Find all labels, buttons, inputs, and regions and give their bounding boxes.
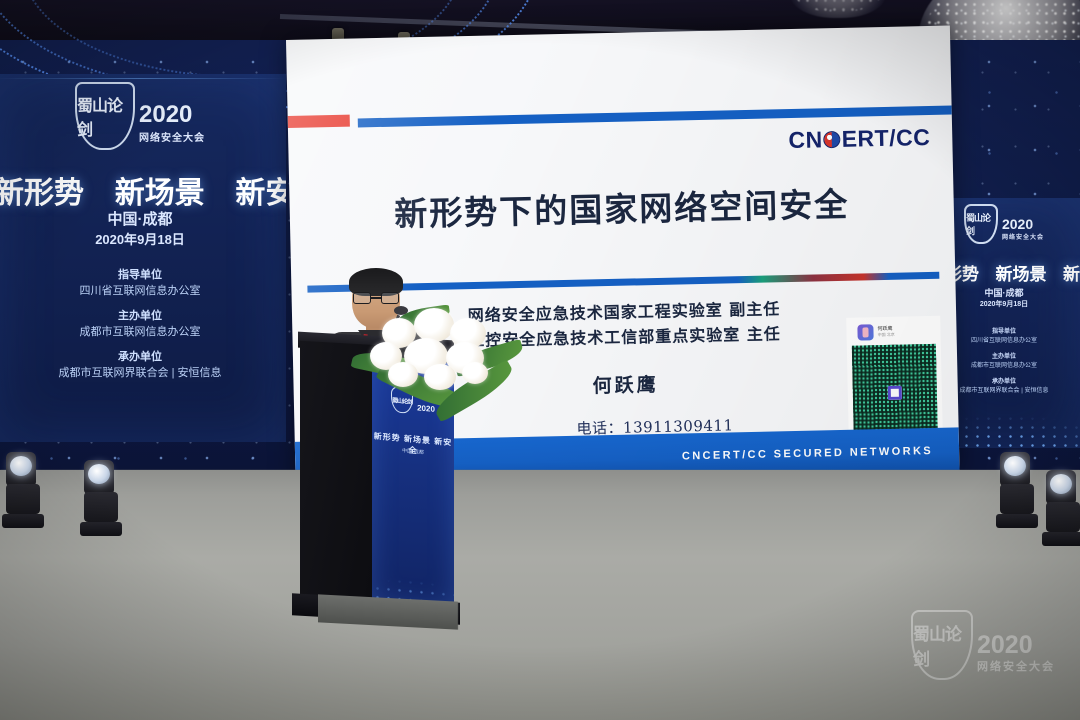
stage-light: [6, 452, 44, 528]
accent-bar-red: [288, 115, 350, 128]
shield-logo-text: 蜀山论剑: [966, 206, 996, 242]
event-date: 2020年9月18日: [0, 229, 286, 248]
qr-code-icon: [852, 344, 938, 442]
event-logo-subtitle: 网络安全大会: [1002, 232, 1044, 241]
cncert-logo: CN ERT/CC: [788, 124, 930, 154]
shield-logo-text: 蜀山论剑: [77, 84, 133, 148]
stage-light: [1000, 452, 1038, 528]
conference-stage-photo: 蜀山论剑 2020 网络安全大会 新形势 新场景 新安全 中国·成都 2020年…: [0, 0, 1080, 720]
slide-title: 新形势下的国家网络空间安全: [289, 175, 954, 237]
watermark-subtitle: 网络安全大会: [977, 658, 1055, 674]
cncert-logo-prefix: CN: [788, 126, 823, 154]
backdrop-banner-left: 蜀山论剑 2020 网络安全大会 新形势 新场景 新安全 中国·成都 2020年…: [0, 74, 286, 442]
qr-card-header: 何跃鹰 中国 北京: [851, 321, 935, 346]
shield-logo-icon: 蜀山论剑: [911, 610, 973, 680]
shield-logo-icon: 蜀山论剑: [75, 82, 135, 150]
organizer-name: 成都市互联网信息办公室: [0, 323, 286, 348]
tagline-part-3: 新安全: [1063, 265, 1080, 284]
tagline-part-1: 新形势: [0, 177, 84, 210]
organizer-title: 主办单位: [0, 307, 286, 323]
watermark-shield-text: 蜀山论剑: [913, 612, 971, 678]
tagline-part-2: 新场景: [995, 265, 1046, 284]
organizer-title: 指导单位: [0, 266, 286, 282]
stage-light: [1046, 470, 1080, 546]
watermark-year: 2020: [977, 633, 1055, 658]
tagline-part-2: 新场景: [115, 177, 205, 210]
stage-light: [84, 460, 122, 536]
accent-bar-blue: [358, 105, 952, 127]
tagline-part-3: 新安全: [235, 177, 286, 210]
flower-arrangement: [358, 300, 518, 420]
event-logo-year: 2020: [139, 101, 205, 129]
event-tagline: 新形势 新场景 新安全: [0, 168, 286, 212]
globe-icon: [823, 131, 840, 148]
qr-contact-sub: 中国 北京: [878, 332, 895, 337]
organizer-name: 四川省互联网信息办公室: [0, 282, 286, 307]
event-logo-left: 蜀山论剑 2020 网络安全大会: [0, 82, 286, 150]
organizer-list-left: 指导单位 四川省互联网信息办公室 主办单位 成都市互联网信息办公室 承办单位 成…: [0, 266, 286, 380]
watermark-logo: 蜀山论剑 2020 网络安全大会: [908, 610, 1058, 702]
slide-footer-text: CNCERT/CC SECURED NETWORKS: [682, 444, 959, 462]
cncert-logo-suffix: ERT/CC: [841, 124, 930, 153]
event-place: 中国·成都: [0, 208, 286, 229]
organizer-title: 承办单位: [0, 348, 286, 364]
event-logo-year: 2020: [1002, 216, 1044, 232]
avatar: [857, 324, 873, 340]
event-logo-subtitle: 网络安全大会: [139, 129, 205, 144]
organizer-name: 成都市互联网界联合会 | 安恒信息: [0, 364, 286, 380]
shield-logo-icon: 蜀山论剑: [964, 204, 998, 244]
